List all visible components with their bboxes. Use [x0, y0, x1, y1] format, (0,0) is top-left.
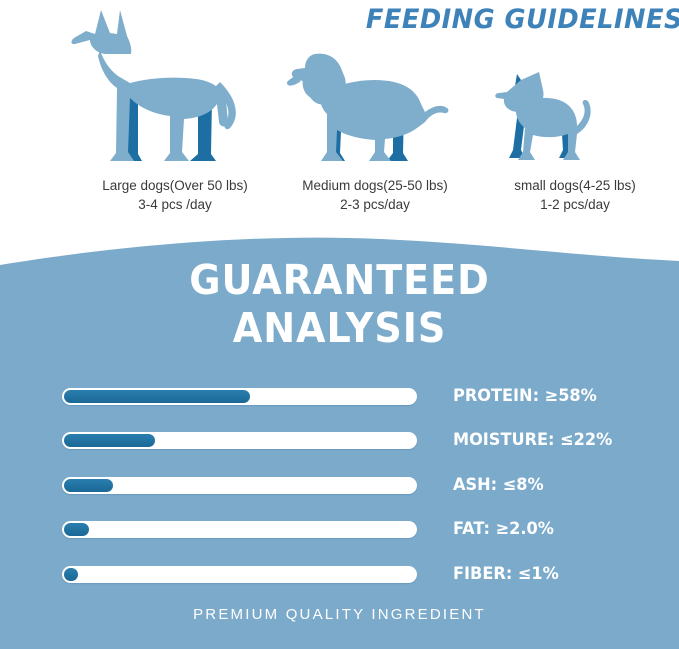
page-title: FEEDING GUIDELINES — [366, 2, 666, 38]
dog-size-label-large: Large dogs(Over 50 lbs) — [102, 178, 248, 193]
dog-caption-large: Large dogs(Over 50 lbs) 3-4 pcs /day — [50, 176, 300, 214]
nutrient-bar-fill-moisture — [64, 434, 155, 447]
nutrient-label-fiber: FIBER: ≤1% — [453, 564, 559, 585]
nutrient-label-ash: ASH: ≤8% — [453, 475, 544, 496]
nutrient-row-fiber: FIBER: ≤1% — [62, 566, 622, 586]
nutrient-row-moisture: MOISTURE: ≤22% — [62, 432, 622, 452]
chihuahua-silhouette-icon — [495, 68, 605, 168]
dog-size-label-medium: Medium dogs(25-50 lbs) — [302, 178, 448, 193]
nutrient-bar-fill-fat — [64, 523, 89, 536]
nutrient-label-fat: FAT: ≥2.0% — [453, 519, 554, 540]
dog-caption-medium: Medium dogs(25-50 lbs) 2-3 pcs/day — [270, 176, 480, 214]
feeding-guidelines-infographic: FEEDING GUIDELINES Large dogs(Over 50 lb… — [0, 0, 679, 649]
nutrient-row-fat: FAT: ≥2.0% — [62, 521, 622, 541]
dog-amount-label-large: 3-4 pcs /day — [50, 195, 300, 214]
nutrient-bar-fill-ash — [64, 479, 113, 492]
nutrient-bar-list: PROTEIN: ≥58% MOISTURE: ≤22% ASH: ≤8% — [0, 225, 679, 649]
nutrient-bar-fill-protein — [64, 390, 250, 403]
nutrient-label-protein: PROTEIN: ≥58% — [453, 386, 597, 407]
nutrient-bar-fill-fiber — [64, 568, 78, 581]
dog-amount-label-small: 1-2 pcs/day — [478, 195, 672, 214]
dog-size-label-small: small dogs(4-25 lbs) — [514, 178, 636, 193]
nutrient-bar-track-fiber — [62, 566, 417, 583]
nutrient-label-moisture: MOISTURE: ≤22% — [453, 430, 612, 451]
premium-quality-footer: PREMIUM QUALITY INGREDIENT — [0, 606, 679, 623]
nutrient-bar-track-moisture — [62, 432, 417, 449]
nutrient-bar-track-protein — [62, 388, 417, 405]
labrador-silhouette-icon — [285, 48, 450, 170]
great-dane-silhouette-icon — [70, 4, 270, 169]
nutrient-bar-track-ash — [62, 477, 417, 494]
nutrient-row-ash: ASH: ≤8% — [62, 477, 622, 497]
dog-amount-label-medium: 2-3 pcs/day — [270, 195, 480, 214]
nutrient-row-protein: PROTEIN: ≥58% — [62, 388, 622, 408]
guaranteed-analysis-section: GUARANTEED ANALYSIS PROTEIN: ≥58% MOISTU… — [0, 225, 679, 649]
dog-caption-small: small dogs(4-25 lbs) 1-2 pcs/day — [478, 176, 672, 214]
nutrient-bar-track-fat — [62, 521, 417, 538]
